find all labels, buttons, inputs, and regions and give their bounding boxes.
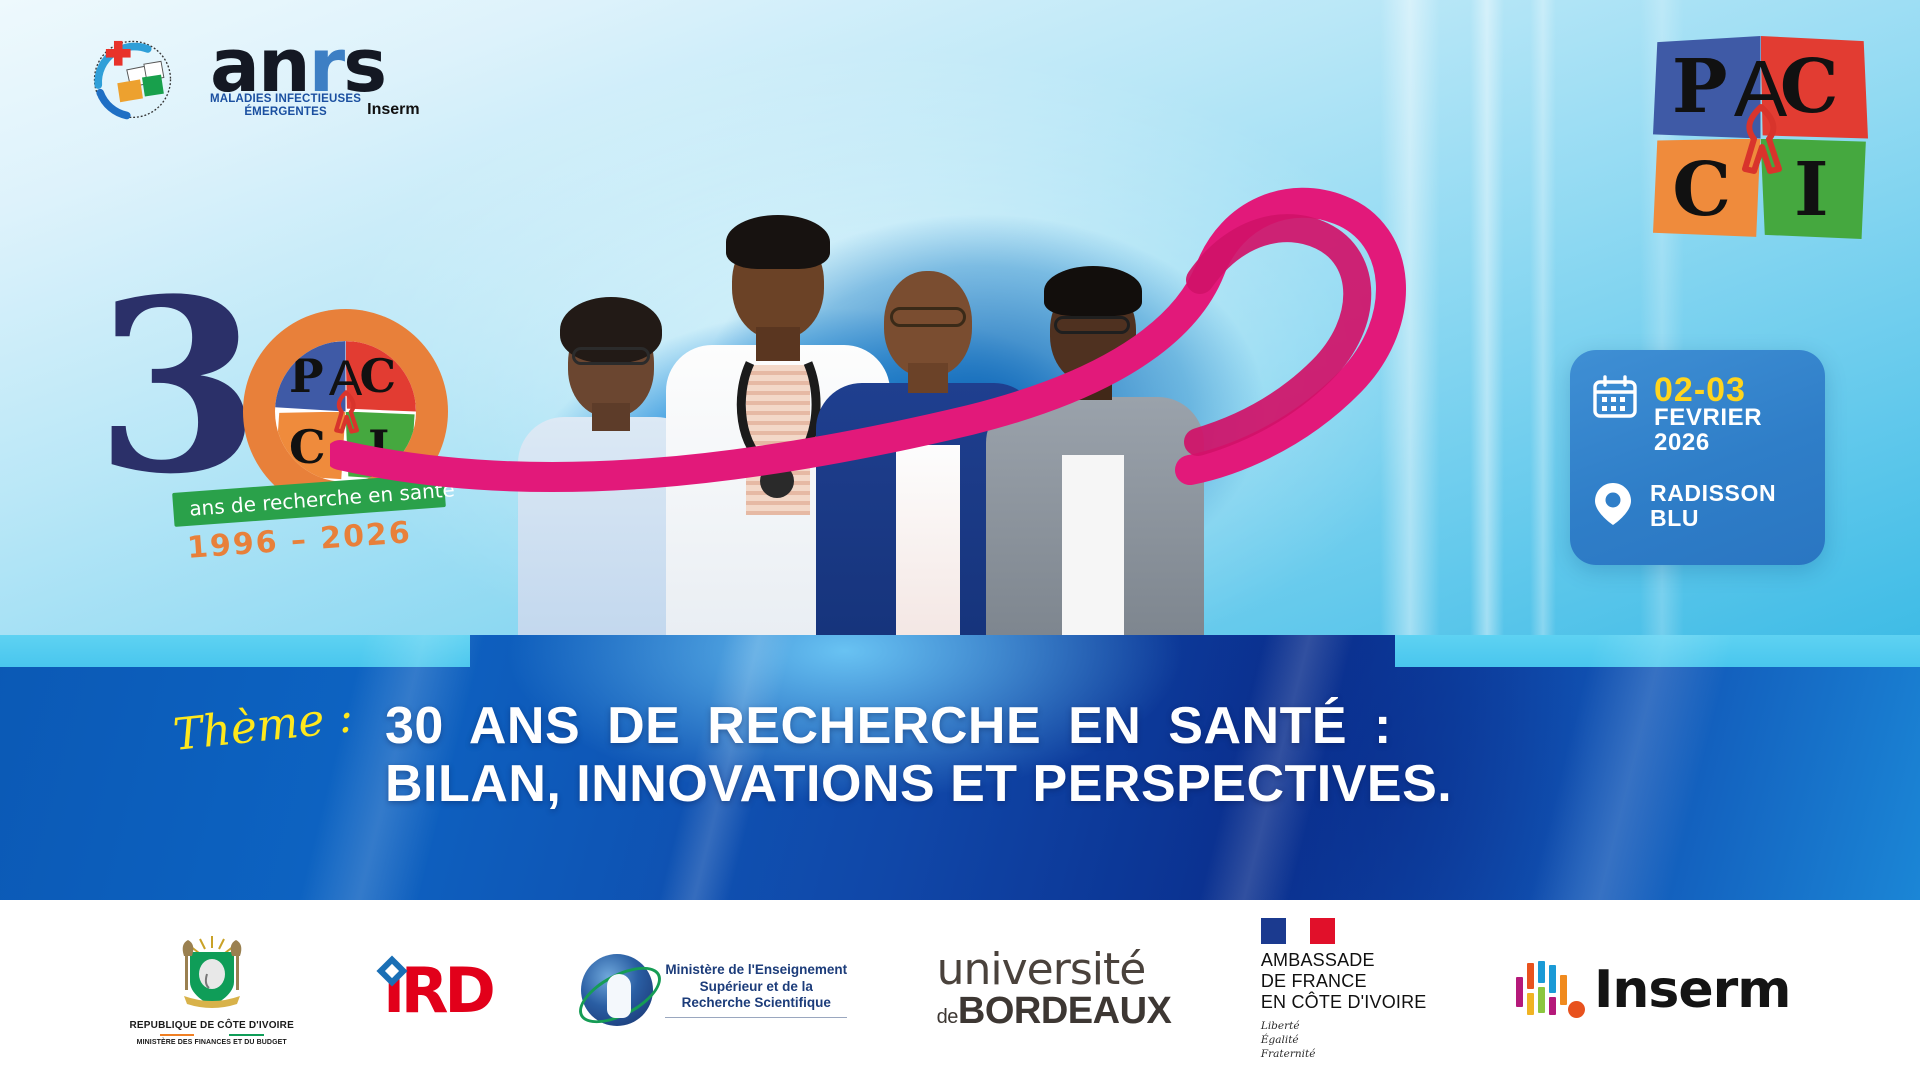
pacci-mini-letter-c2: C [289, 420, 326, 474]
event-venue-text: RADISSON BLU [1650, 481, 1776, 531]
mesrs-line-3: Recherche Scientifique [665, 995, 847, 1012]
event-date-year: 2026 [1654, 431, 1762, 455]
civ-caption: REPUBLIQUE DE CÔTE D'IVOIRE [129, 1020, 293, 1031]
anrs-subtitle: MALADIES INFECTIEUSES ÉMERGENTES Inserm [210, 93, 470, 119]
event-venue-row: RADISSON BLU [1592, 481, 1807, 531]
theme-line-1: 30 ANS DE RECHERCHE EN SANTÉ : [385, 697, 1805, 755]
event-date-month: FEVRIER [1654, 406, 1762, 430]
pacci-letter-c2: C [1672, 147, 1731, 233]
ub-line-2: BORDEAUX [958, 990, 1171, 1032]
inserm-logo: Inserm [1516, 959, 1790, 1021]
mesrs-text-block: Ministère de l'Enseignement Supérieur et… [665, 962, 847, 1019]
event-date-row: 02-03 FEVRIER 2026 [1592, 374, 1807, 455]
ub-block: université deBORDEAUX [937, 948, 1172, 1032]
anrs-subtitle-line2: ÉMERGENTES [210, 106, 361, 119]
pacci-letter-c1: C [1780, 44, 1839, 130]
mesrs-line-1: Ministère de l'Enseignement [665, 962, 847, 979]
civ-coat-of-arms-icon [174, 934, 250, 1016]
amb-line-3: EN CÔTE D'IVOIRE [1261, 992, 1427, 1013]
event-venue-line1: RADISSON [1650, 481, 1776, 506]
anrs-subtitle-text: MALADIES INFECTIEUSES ÉMERGENTES [210, 93, 361, 119]
amb-motto: Liberté Égalité Fraternité [1261, 1019, 1427, 1062]
event-venue-line2: BLU [1650, 506, 1776, 531]
amb-motto-2: Égalité [1261, 1033, 1427, 1047]
map-pin-icon [1592, 481, 1634, 527]
mesrs-divider [665, 1017, 847, 1018]
pacci-letter-i: I [1794, 147, 1829, 233]
theme-line-2: BILAN, INNOVATIONS ET PERSPECTIVES. [385, 755, 1805, 813]
pacci-red-ribbon-icon [1738, 103, 1784, 175]
amb-line-1: AMBASSADE [1261, 950, 1427, 971]
inserm-text: Inserm [1594, 960, 1790, 1020]
anniversary-number-3: 3 [95, 295, 251, 481]
amb-line-2: DE FRANCE [1261, 971, 1427, 992]
ambassade-de-france-logo: AMBASSADE DE FRANCE EN CÔTE D'IVOIRE Lib… [1261, 918, 1427, 1061]
inserm-block: Inserm [1516, 959, 1790, 1021]
ministry-health-cote-divoire-logo [85, 30, 180, 125]
mesrs-line-2: Supérieur et de la [665, 979, 847, 996]
theme-text: 30 ANS DE RECHERCHE EN SANTÉ : BILAN, IN… [385, 697, 1805, 813]
event-info-card: 02-03 FEVRIER 2026 RADISSON BLU [1570, 350, 1825, 565]
inserm-wordmark: Inserm [1594, 960, 1790, 1020]
event-date-days: 02-03 [1654, 374, 1762, 406]
pacci-logo: P C C I A [1653, 36, 1868, 241]
civ-flag-rule [160, 1034, 264, 1037]
event-banner: anrs MALADIES INFECTIEUSES ÉMERGENTES In… [0, 0, 1920, 1080]
pacci-letter-p: P [1672, 44, 1728, 130]
ub-line-1: université [937, 948, 1172, 992]
anrs-subtitle-line1: MALADIES INFECTIEUSES [210, 93, 361, 106]
amb-block: AMBASSADE DE FRANCE EN CÔTE D'IVOIRE Lib… [1261, 918, 1427, 1061]
pink-awareness-ribbon [330, 170, 1510, 590]
ub-de: de [937, 1006, 958, 1028]
ub-line-2-wrap: deBORDEAUX [937, 992, 1172, 1032]
inserm-dot-icon [1568, 1001, 1585, 1018]
ird-wordmark: iRD [383, 954, 491, 1027]
calendar-icon [1592, 374, 1638, 420]
civ-emblem: REPUBLIQUE DE CÔTE D'IVOIRE MINISTÈRE DE… [129, 934, 293, 1047]
anrs-wordmark: anrs [210, 36, 470, 97]
pacci-grid: P C C I A [1653, 36, 1868, 241]
republique-cote-divoire-logo: REPUBLIQUE DE CÔTE D'IVOIRE MINISTÈRE DE… [129, 934, 293, 1047]
pacci-mini-red-ribbon-icon [332, 389, 360, 435]
partner-logos-footer: REPUBLIQUE DE CÔTE D'IVOIRE MINISTÈRE DE… [0, 900, 1920, 1080]
event-date-text: 02-03 FEVRIER 2026 [1654, 374, 1762, 455]
mesrs-block: Ministère de l'Enseignement Supérieur et… [581, 954, 847, 1026]
anrs-logo: anrs MALADIES INFECTIEUSES ÉMERGENTES In… [210, 36, 470, 131]
french-flag-marianne-icon [1261, 918, 1335, 944]
ministere-enseignement-superieur-logo: Ministère de l'Enseignement Supérieur et… [581, 954, 847, 1026]
banner-top-section: anrs MALADIES INFECTIEUSES ÉMERGENTES In… [0, 0, 1920, 635]
amb-motto-3: Fraternité [1261, 1047, 1427, 1061]
pacci-mini-letter-p: P [289, 349, 324, 403]
civ-subcaption: MINISTÈRE DES FINANCES ET DU BUDGET [129, 1039, 293, 1046]
amb-motto-1: Liberté [1261, 1019, 1427, 1033]
mesrs-globe-icon [581, 954, 653, 1026]
anrs-inserm-tag: Inserm [367, 102, 419, 118]
background-glass-streak-3 [1530, 0, 1556, 635]
universite-de-bordeaux-logo: université deBORDEAUX [937, 948, 1172, 1032]
ird-logo: iRD [383, 954, 491, 1027]
